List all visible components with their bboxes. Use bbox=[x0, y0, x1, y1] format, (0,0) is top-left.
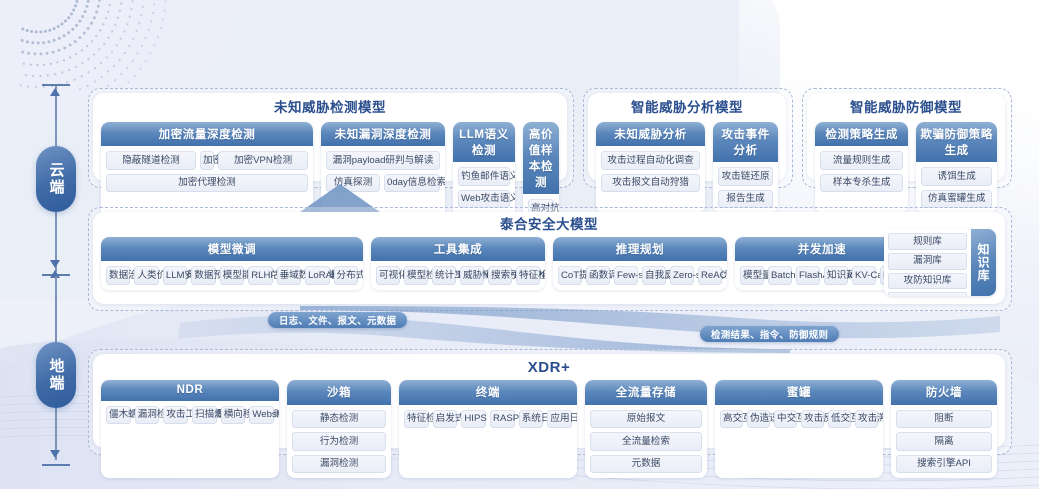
module-header: LLM语义检测 bbox=[453, 122, 515, 163]
module-card[interactable]: 全流量存储 原始报文 全流量检索 元数据 bbox=[585, 380, 707, 478]
module-card[interactable]: 检测策略生成 流量规则生成 样本专杀生成 bbox=[815, 122, 908, 214]
diagram-canvas: 云端 地端 未知威胁检测模型 加密流量深度检测 隐蔽隧道检测 加密Webshel… bbox=[0, 0, 1039, 489]
module-body: 静态检测 行为检测 漏洞检测 bbox=[287, 405, 391, 474]
module-body: 特征检测 启发式检测 HIPS RASP 系统日志 应用日志 bbox=[399, 405, 577, 429]
module-header: 攻击事件分析 bbox=[713, 122, 778, 163]
module-chip[interactable]: 僵木蠕检测 bbox=[106, 406, 131, 425]
module-body: 钓鱼邮件语义检测 Web攻击语义检测 bbox=[453, 162, 515, 208]
knowledge-base-item[interactable]: 规则库 bbox=[888, 233, 967, 250]
module-chip[interactable]: 全流量检索 bbox=[590, 432, 702, 451]
module-chip[interactable]: 仿真探测 bbox=[326, 174, 380, 193]
module-header: 高价值样本检测 bbox=[523, 122, 559, 195]
module-chip[interactable]: 攻击链还原 bbox=[718, 167, 773, 186]
module-chip[interactable]: 报告生成 bbox=[718, 190, 773, 209]
knowledge-base-item[interactable]: 漏洞库 bbox=[888, 253, 967, 270]
module-header: 防火墙 bbox=[891, 380, 997, 405]
module-chip[interactable]: 攻击工具检测 bbox=[163, 406, 188, 425]
module-chip[interactable]: 攻击溯源 bbox=[855, 410, 878, 429]
module-card[interactable]: 未知威胁分析 攻击过程自动化调查 攻击报文自动狩猎 bbox=[596, 122, 705, 214]
module-chip[interactable]: 加密VPN检测 bbox=[218, 151, 308, 170]
rail-arrow-up-top bbox=[50, 88, 60, 96]
module-card[interactable]: 防火墙 阻断 隔离 搜索引擎API bbox=[891, 380, 997, 478]
module-chip[interactable]: 漏洞检测 bbox=[292, 455, 386, 474]
module-chip[interactable]: Web攻击语义检测 bbox=[458, 190, 510, 209]
panel-title: XDR+ bbox=[93, 354, 1005, 375]
panel-threat-defense[interactable]: 智能威胁防御模型 检测策略生成 流量规则生成 样本专杀生成 欺骗防御策略生成 诱… bbox=[807, 93, 1005, 181]
module-header: 全流量存储 bbox=[585, 380, 707, 405]
module-chip[interactable]: 行为检测 bbox=[292, 432, 386, 451]
module-chip[interactable]: 模型能力评估 bbox=[220, 266, 244, 285]
module-chip[interactable]: RLHF微调 bbox=[248, 266, 272, 285]
rail-label-ground: 地端 bbox=[36, 342, 76, 408]
module-chip[interactable]: 模型检测API bbox=[404, 266, 428, 285]
module-body: 攻击链还原 报告生成 bbox=[713, 162, 778, 208]
module-header: 工具集成 bbox=[371, 237, 545, 262]
module-chip[interactable]: 中交互 bbox=[774, 410, 797, 429]
module-header: 欺骗防御策略生成 bbox=[916, 122, 997, 163]
module-chip[interactable]: Webshell检测 bbox=[249, 406, 274, 425]
module-chip[interactable]: 隐蔽隧道检测 bbox=[106, 151, 196, 170]
module-card[interactable]: NDR 僵木蠕检测 漏洞检测 攻击工具检测 扫描爆破 横向移动检测 Webshe… bbox=[101, 380, 279, 478]
module-chip[interactable]: 统计工具API bbox=[432, 266, 456, 285]
module-body: 可视化API 模型检测API 统计工具API 威胁情报API 搜索引擎API 特… bbox=[371, 261, 545, 285]
knowledge-base-list: 规则库 漏洞库 攻防知识库 ATT&CK bbox=[884, 229, 971, 296]
module-chip[interactable]: 数据治理 bbox=[106, 266, 130, 285]
module-chip[interactable]: 0day信息检索 bbox=[384, 174, 440, 193]
module-chip[interactable]: 扫描爆破 bbox=[192, 406, 217, 425]
module-chip[interactable]: Zero-shot提示 bbox=[670, 266, 694, 285]
module-chip[interactable]: Batch推理 bbox=[768, 266, 792, 285]
module-header: 终端 bbox=[399, 380, 577, 405]
module-card[interactable]: 终端 特征检测 启发式检测 HIPS RASP 系统日志 应用日志 bbox=[399, 380, 577, 478]
panel-title: 未知威胁检测模型 bbox=[93, 93, 567, 115]
panel-threat-analysis[interactable]: 智能威胁分析模型 未知威胁分析 攻击过程自动化调查 攻击报文自动狩猎 攻击事件分… bbox=[588, 93, 786, 181]
module-chip[interactable]: 阻断 bbox=[896, 410, 992, 429]
module-card[interactable]: 攻击事件分析 攻击链还原 报告生成 bbox=[713, 122, 778, 214]
module-chip[interactable]: 流量规则生成 bbox=[820, 151, 903, 170]
rail-label-cloud: 云端 bbox=[36, 146, 76, 212]
knowledge-base-item[interactable]: ATT&CK bbox=[888, 292, 967, 296]
module-chip[interactable]: 可视化API bbox=[376, 266, 400, 285]
module-chip[interactable]: 横向移动检测 bbox=[221, 406, 246, 425]
module-card[interactable]: 工具集成 可视化API 模型检测API 统计工具API 威胁情报API 搜索引擎… bbox=[371, 237, 545, 290]
module-chip[interactable]: 分布式训练 bbox=[334, 266, 358, 285]
module-card[interactable]: 沙箱 静态检测 行为检测 漏洞检测 bbox=[287, 380, 391, 478]
connector-label-detection-results: 检测结果、指令、防御规则 bbox=[700, 326, 839, 342]
knowledge-base-block[interactable]: 规则库 漏洞库 攻防知识库 ATT&CK 知识库 bbox=[884, 229, 996, 296]
module-chip[interactable]: CoT提示 bbox=[558, 266, 582, 285]
module-chip[interactable]: 系统日志 bbox=[519, 410, 544, 429]
module-body: 隐蔽隧道检测 加密Webshell深度检测 加密VPN检测 加密代理检测 bbox=[101, 146, 313, 192]
panel-security-large-model[interactable]: 泰合安全大模型 模型微调 数据治理 人类价值对齐 LLM安全 数据预处理 模型能… bbox=[93, 212, 1005, 304]
module-card[interactable]: 模型微调 数据治理 人类价值对齐 LLM安全 数据预处理 模型能力评估 RLHF… bbox=[101, 237, 363, 290]
module-chip[interactable]: 特征检测API bbox=[516, 266, 540, 285]
module-chip[interactable]: LoRA微调 bbox=[305, 266, 329, 285]
panel-title: 智能威胁分析模型 bbox=[588, 93, 786, 115]
panel-xdr-plus[interactable]: XDR+ NDR 僵木蠕检测 漏洞检测 攻击工具检测 扫描爆破 横向移动检测 W… bbox=[93, 354, 1005, 448]
module-chip[interactable]: HIPS bbox=[461, 410, 486, 429]
module-chip[interactable]: 威胁情报API bbox=[460, 266, 484, 285]
module-chip[interactable]: 高交互 bbox=[720, 410, 743, 429]
module-chip[interactable]: RASP bbox=[490, 410, 515, 429]
module-header: NDR bbox=[101, 380, 279, 401]
module-chip[interactable]: 隔离 bbox=[896, 432, 992, 451]
module-chip[interactable]: 函数调用 bbox=[586, 266, 610, 285]
connector-label-logs-files: 日志、文件、报文、元数据 bbox=[268, 312, 407, 328]
module-card[interactable]: 蜜罐 高交互 伪造诱饵 中交互 攻击反制 低交互 攻击溯源 bbox=[715, 380, 883, 478]
module-body: 攻击过程自动化调查 攻击报文自动狩猎 bbox=[596, 146, 705, 192]
module-header: 并发加速 bbox=[735, 237, 909, 262]
panel-unknown-threat-detection[interactable]: 未知威胁检测模型 加密流量深度检测 隐蔽隧道检测 加密Webshell深度检测 … bbox=[93, 93, 567, 181]
module-header: 检测策略生成 bbox=[815, 122, 908, 147]
module-body: 阻断 隔离 搜索引擎API bbox=[891, 405, 997, 474]
module-chip[interactable]: 搜索引擎API bbox=[488, 266, 512, 285]
module-chip[interactable]: 仿真蜜罐生成 bbox=[921, 190, 992, 209]
module-chip[interactable]: 低交互 bbox=[828, 410, 851, 429]
module-chip[interactable]: 钓鱼邮件语义检测 bbox=[458, 167, 510, 186]
module-header: 沙箱 bbox=[287, 380, 391, 405]
panel-title: 泰合安全大模型 bbox=[93, 212, 1005, 232]
module-chip[interactable]: 加密代理检测 bbox=[106, 174, 308, 193]
module-chip[interactable]: LLM安全 bbox=[163, 266, 187, 285]
module-header: 蜜罐 bbox=[715, 380, 883, 405]
module-chip[interactable]: 加密Webshell深度检测 bbox=[200, 151, 214, 170]
module-chip[interactable]: Few-shot提示 bbox=[614, 266, 638, 285]
module-chip[interactable]: 伪造诱饵 bbox=[747, 410, 770, 429]
module-chip[interactable]: 垂域数据搜集 bbox=[277, 266, 301, 285]
module-chip[interactable]: 诱饵生成 bbox=[921, 167, 992, 186]
module-chip[interactable]: 特征检测 bbox=[404, 410, 429, 429]
module-chip[interactable]: 数据预处理 bbox=[191, 266, 215, 285]
module-chip[interactable]: 启发式检测 bbox=[433, 410, 458, 429]
module-body: 僵木蠕检测 漏洞检测 攻击工具检测 扫描爆破 横向移动检测 Webshell检测 bbox=[101, 401, 279, 425]
module-chip[interactable]: 自我反思 bbox=[642, 266, 666, 285]
module-card[interactable]: 并发加速 模型量化 Batch推理 FlashAttention 知识蒸馏 KV… bbox=[735, 237, 909, 290]
rail-arrow-down-bottom bbox=[50, 450, 60, 458]
module-chip[interactable]: 漏洞payload研判与解读 bbox=[326, 151, 440, 170]
module-chip[interactable]: 原始报文 bbox=[590, 410, 702, 429]
module-body: 漏洞payload研判与解读 仿真探测 0day信息检索 bbox=[321, 146, 445, 192]
module-card[interactable]: 推理规划 CoT提示 函数调用 Few-shot提示 自我反思 Zero-sho… bbox=[553, 237, 727, 290]
deployment-rail: 云端 地端 bbox=[28, 84, 84, 484]
module-header: 加密流量深度检测 bbox=[101, 122, 313, 147]
rail-arrow-down-cloud bbox=[50, 260, 60, 268]
module-chip[interactable]: 漏洞检测 bbox=[135, 406, 160, 425]
module-header: 未知威胁分析 bbox=[596, 122, 705, 147]
module-chip[interactable]: 攻击报文自动狩猎 bbox=[601, 174, 700, 193]
module-body: 流量规则生成 样本专杀生成 bbox=[815, 146, 908, 192]
module-chip[interactable]: 静态检测 bbox=[292, 410, 386, 429]
module-chip[interactable]: 搜索引擎API bbox=[896, 455, 992, 474]
module-body: 模型量化 Batch推理 FlashAttention 知识蒸馏 KV-Cach… bbox=[735, 261, 909, 285]
knowledge-base-item[interactable]: 攻防知识库 bbox=[888, 273, 967, 290]
module-chip[interactable]: FlashAttention bbox=[796, 266, 820, 285]
panel-title: 智能威胁防御模型 bbox=[807, 93, 1005, 115]
module-body: CoT提示 函数调用 Few-shot提示 自我反思 Zero-shot提示 R… bbox=[553, 261, 727, 285]
module-header: 推理规划 bbox=[553, 237, 727, 262]
module-body: 原始报文 全流量检索 元数据 bbox=[585, 405, 707, 474]
module-body: 高交互 伪造诱饵 中交互 攻击反制 低交互 攻击溯源 bbox=[715, 405, 883, 429]
rail-bottom-cap bbox=[42, 464, 70, 466]
module-chip[interactable]: 应用日志 bbox=[547, 410, 572, 429]
module-chip[interactable]: 知识蒸馏 bbox=[824, 266, 848, 285]
module-card[interactable]: 欺骗防御策略生成 诱饵生成 仿真蜜罐生成 bbox=[916, 122, 997, 214]
module-body: 诱饵生成 仿真蜜罐生成 bbox=[916, 162, 997, 208]
module-body: 数据治理 人类价值对齐 LLM安全 数据预处理 模型能力评估 RLHF微调 垂域… bbox=[101, 261, 363, 285]
module-chip[interactable]: 攻击过程自动化调查 bbox=[601, 151, 700, 170]
module-chip[interactable]: 攻击反制 bbox=[801, 410, 824, 429]
module-chip[interactable]: 人类价值对齐 bbox=[134, 266, 158, 285]
module-chip[interactable]: 元数据 bbox=[590, 455, 702, 474]
module-header: 模型微调 bbox=[101, 237, 363, 262]
knowledge-base-side-label: 知识库 bbox=[971, 229, 996, 296]
module-header: 未知漏洞深度检测 bbox=[321, 122, 445, 147]
module-chip[interactable]: 样本专杀生成 bbox=[820, 174, 903, 193]
module-chip[interactable]: 模型量化 bbox=[740, 266, 764, 285]
module-chip[interactable]: ReACT框架 bbox=[698, 266, 722, 285]
module-chip[interactable]: KV-Cache bbox=[852, 266, 876, 285]
